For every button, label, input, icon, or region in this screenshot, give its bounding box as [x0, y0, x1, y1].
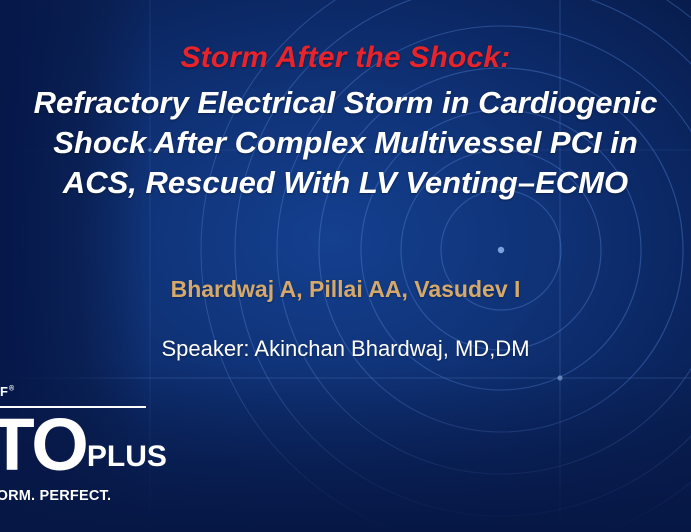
title-line-3: Shock After Complex Multivessel PCI in: [0, 125, 691, 162]
speaker-line: Speaker: Akinchan Bhardwaj, MD,DM: [0, 336, 691, 362]
author-list: Bhardwaj A, Pillai AA, Vasudev I: [0, 276, 691, 303]
logo-suffix-text: PLUS: [87, 440, 167, 473]
cto-plus-logo: F® CTOPLUS N. PERFORM. PERFECT.: [0, 384, 198, 514]
logo-top-label-text: F: [0, 384, 9, 399]
logo-wordmark-text: CTO: [0, 403, 87, 486]
title-line-1: Storm After the Shock:: [0, 40, 691, 75]
presentation-slide: Storm After the Shock: Refractory Electr…: [0, 0, 691, 532]
title-line-2: Refractory Electrical Storm in Cardiogen…: [0, 85, 691, 122]
title-line-4: ACS, Rescued With LV Venting–ECMO: [0, 165, 691, 202]
logo-registered-icon: ®: [9, 386, 15, 393]
logo-top-label: F®: [0, 384, 15, 399]
slide-title: Storm After the Shock: Refractory Electr…: [0, 40, 691, 201]
logo-tagline: N. PERFORM. PERFECT.: [0, 488, 111, 504]
logo-wordmark: CTOPLUS: [0, 408, 167, 482]
